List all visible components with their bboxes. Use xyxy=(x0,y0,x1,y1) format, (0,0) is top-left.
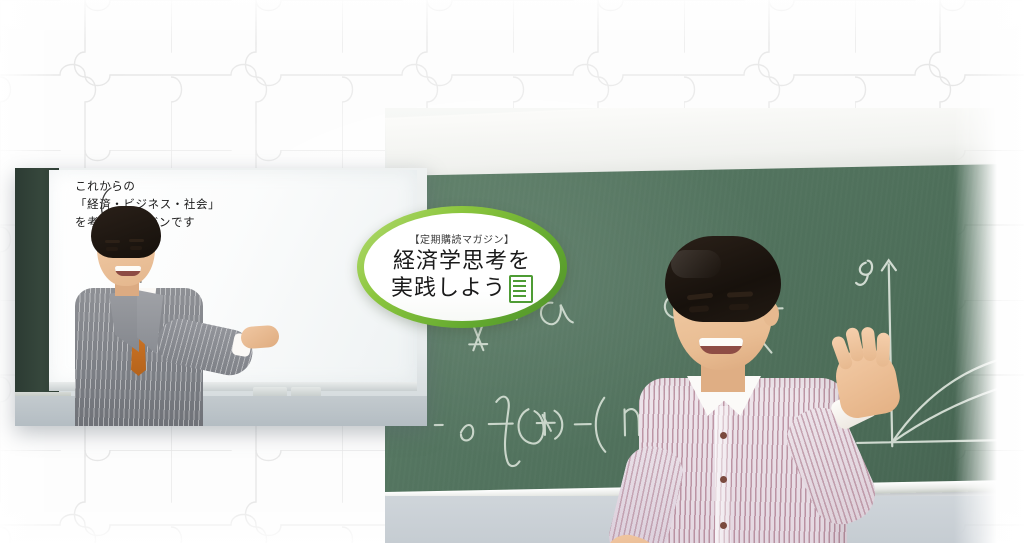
checklist-icon xyxy=(509,275,533,303)
badge-title-line-2: 実践しよう xyxy=(391,276,506,301)
badge-inner: 【定期購読マガジン】 経済学思考を 実践しよう xyxy=(364,213,560,321)
eyebrow xyxy=(129,239,144,242)
smiling-mouth xyxy=(699,338,743,354)
pointing-hand xyxy=(240,325,279,350)
eye xyxy=(130,246,142,250)
magazine-title-badge[interactable]: 【定期購読マガジン】 経済学思考を 実践しよう xyxy=(357,206,567,328)
badge-kicker: 【定期購読マガジン】 xyxy=(410,231,515,246)
shirt-button xyxy=(720,522,727,529)
whiteboard-presenter-photo: これからの 「経済・ビジネス・社会」 を考えるマガジンです xyxy=(15,168,427,426)
smiling-mouth xyxy=(115,266,141,276)
shirt-button xyxy=(720,432,727,439)
classroom-presenter xyxy=(603,236,903,543)
hair xyxy=(665,236,781,322)
teeth xyxy=(699,338,743,346)
eye xyxy=(729,304,749,311)
eye xyxy=(106,247,118,251)
hair xyxy=(91,206,161,258)
raised-right-hand xyxy=(832,343,903,420)
shirt-button xyxy=(720,476,727,483)
badge-title-line-1: 経済学思考を xyxy=(393,249,531,274)
badge-title-row-2: 実践しよう xyxy=(391,275,533,303)
teeth xyxy=(115,266,141,271)
whiteboard-presenter xyxy=(73,206,263,426)
eyebrow xyxy=(105,240,120,243)
